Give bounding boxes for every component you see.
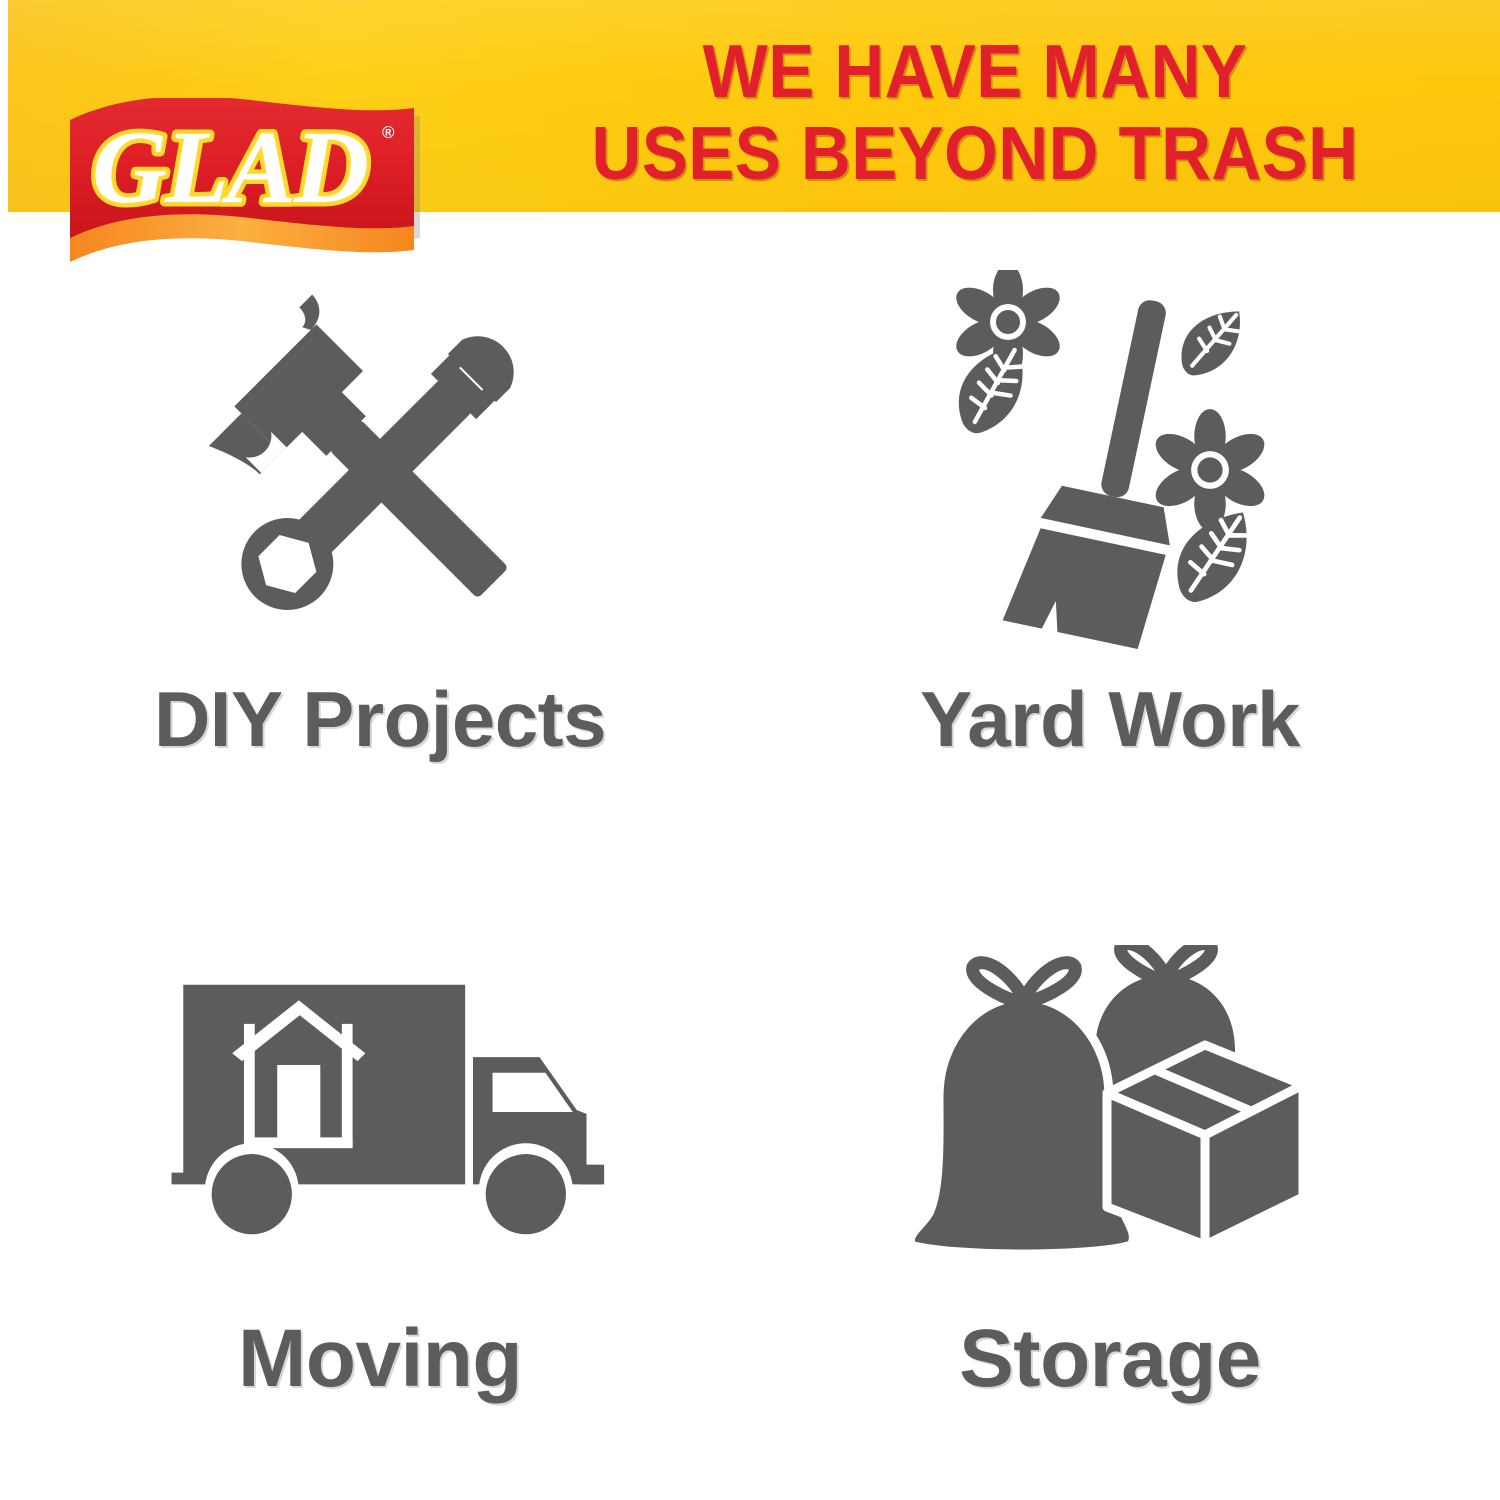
- infographic-page: WE HAVE MANY USES BEYOND TRASH: [0, 0, 1500, 1500]
- use-case-label: Moving: [238, 1316, 522, 1402]
- logo-wordmark: GLAD GLAD: [92, 110, 367, 225]
- use-case-moving: Moving: [10, 910, 750, 1470]
- use-case-label: Storage: [959, 1316, 1261, 1402]
- use-case-label: Yard Work: [920, 676, 1300, 762]
- use-case-diy-projects: DIY Projects: [10, 270, 750, 830]
- bags-and-box-icon: [880, 910, 1340, 1310]
- use-case-grid: DIY Projects: [0, 250, 1500, 1440]
- glad-logo: GLAD GLAD ®: [62, 98, 422, 273]
- headline: WE HAVE MANY USES BEYOND TRASH: [510, 30, 1439, 194]
- moving-truck-icon: [150, 910, 610, 1310]
- cardboard-box: [1107, 1045, 1303, 1245]
- registered-trademark-icon: ®: [382, 123, 395, 142]
- logo-text-fill: GLAD: [92, 110, 367, 225]
- use-case-label: DIY Projects: [154, 676, 606, 762]
- hammer-wrench-icon: [150, 270, 610, 670]
- headline-line-2: USES BEYOND TRASH: [510, 112, 1439, 194]
- use-case-bags-and-box: Storage: [740, 910, 1480, 1470]
- headline-line-1: WE HAVE MANY: [510, 30, 1439, 112]
- front-bag: [910, 963, 1133, 1254]
- use-case-yard-work: Yard Work: [740, 270, 1480, 830]
- broom-leaves-flowers-icon: [880, 270, 1340, 670]
